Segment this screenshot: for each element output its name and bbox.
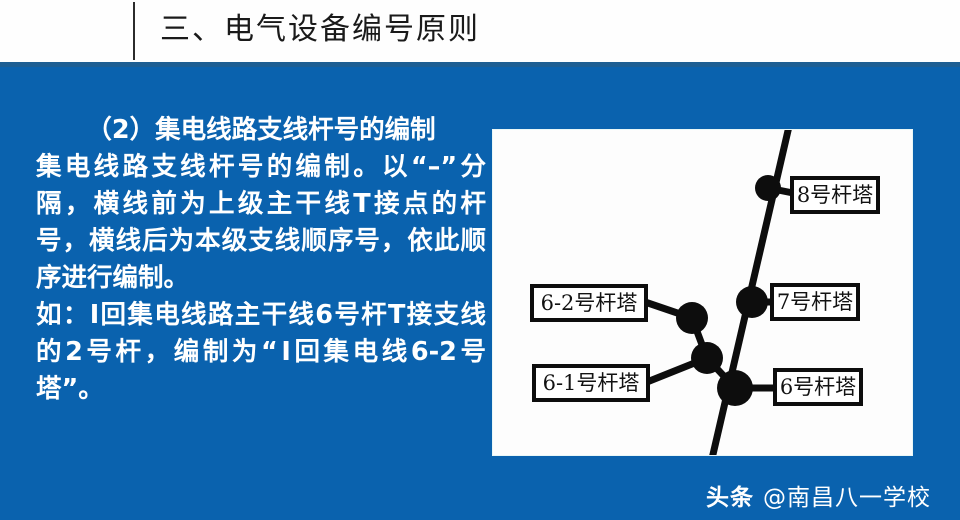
page-title: 三、电气设备编号原则 xyxy=(160,4,480,56)
node-tower7 xyxy=(736,286,768,318)
node-tower8 xyxy=(755,175,781,201)
label-branch61: 6-1号杆塔 xyxy=(532,364,650,402)
header-divider xyxy=(133,2,135,60)
label-tower7: 7号杆塔 xyxy=(770,283,860,321)
label-tower6: 6号杆塔 xyxy=(773,368,863,406)
label-tower8: 8号杆塔 xyxy=(790,176,880,214)
node-junction xyxy=(691,342,723,374)
node-tower6 xyxy=(717,370,753,406)
label-branch62: 6-2号杆塔 xyxy=(530,284,648,322)
watermark-handle: @南昌八一学校 xyxy=(763,485,931,511)
panel-top-edge xyxy=(0,62,960,67)
body-line-1: （2）集电线路支线杆号的编制 xyxy=(36,112,486,149)
watermark: 头条 @南昌八一学校 xyxy=(706,478,931,512)
body-line-3: 如：Ⅰ回集电线路主干线6号杆T接支线的2号杆，编制为“Ⅰ回集电线6-2号塔”。 xyxy=(36,297,486,408)
watermark-prefix: 头条 xyxy=(706,485,754,511)
slide-root: 三、电气设备编号原则 （2）集电线路支线杆号的编制 集电线路支线杆号的编制。以“… xyxy=(0,0,960,520)
node-branch62 xyxy=(676,302,708,334)
slide-header: 三、电气设备编号原则 xyxy=(0,0,960,62)
body-line-2: 集电线路支线杆号的编制。以“–”分隔，横线前为上级主干线T接点的杆号，横线后为本… xyxy=(36,149,486,297)
body-text-block: （2）集电线路支线杆号的编制 集电线路支线杆号的编制。以“–”分隔，横线前为上级… xyxy=(36,112,486,408)
